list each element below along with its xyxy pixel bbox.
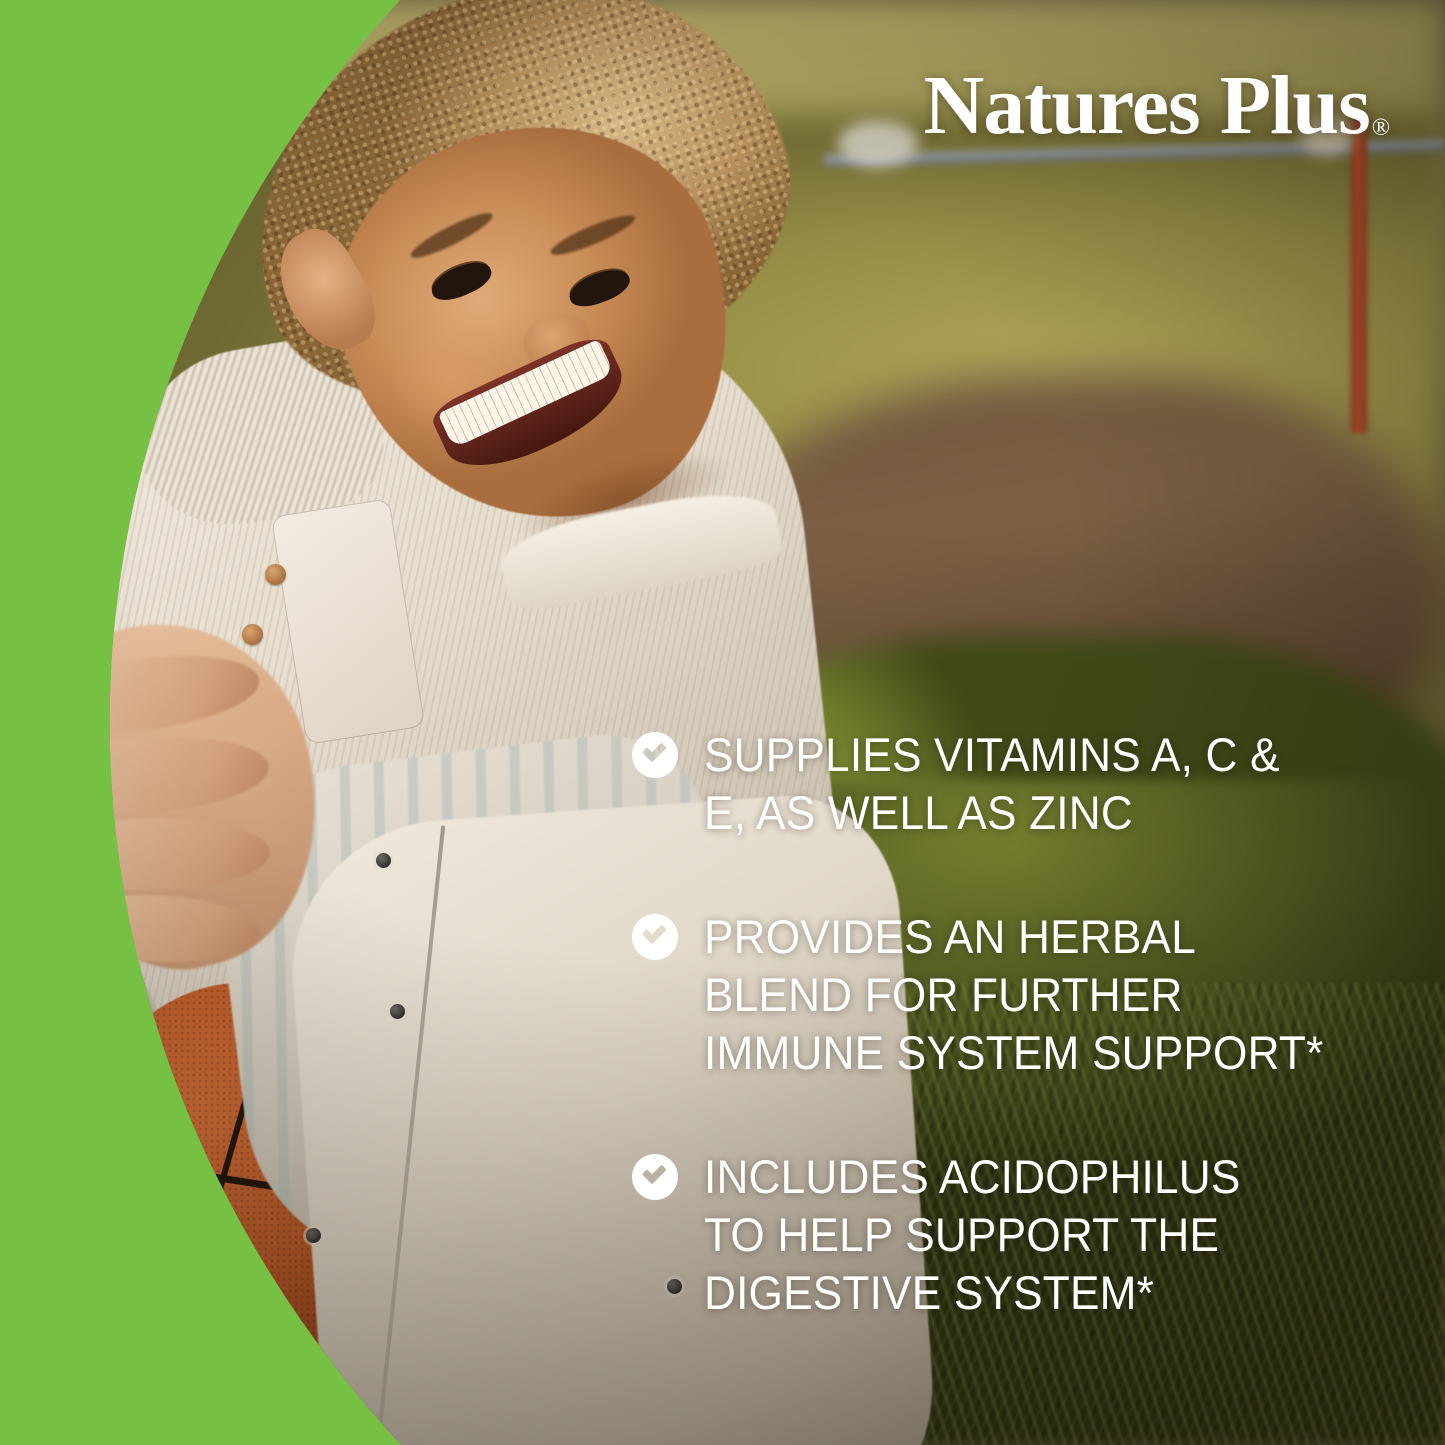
check-circle-icon xyxy=(632,732,678,778)
benefit-label: PROVIDES AN HERBAL BLEND FOR FURTHER IMM… xyxy=(704,908,1323,1082)
product-benefits-banner: Natures Plus ® SUPPLIES VITAMINS A, C & … xyxy=(0,0,1445,1445)
benefit-item: PROVIDES AN HERBAL BLEND FOR FURTHER IMM… xyxy=(632,908,1414,1082)
check-circle-icon xyxy=(632,914,678,960)
check-circle-icon xyxy=(632,1154,678,1200)
benefits-list: SUPPLIES VITAMINS A, C & E, AS WELL AS Z… xyxy=(632,726,1414,1322)
benefit-label: SUPPLIES VITAMINS A, C & E, AS WELL AS Z… xyxy=(704,726,1280,842)
benefit-item: INCLUDES ACIDOPHILUS TO HELP SUPPORT THE… xyxy=(632,1148,1414,1322)
benefit-label: INCLUDES ACIDOPHILUS TO HELP SUPPORT THE… xyxy=(704,1148,1241,1322)
benefit-item: SUPPLIES VITAMINS A, C & E, AS WELL AS Z… xyxy=(632,726,1414,842)
